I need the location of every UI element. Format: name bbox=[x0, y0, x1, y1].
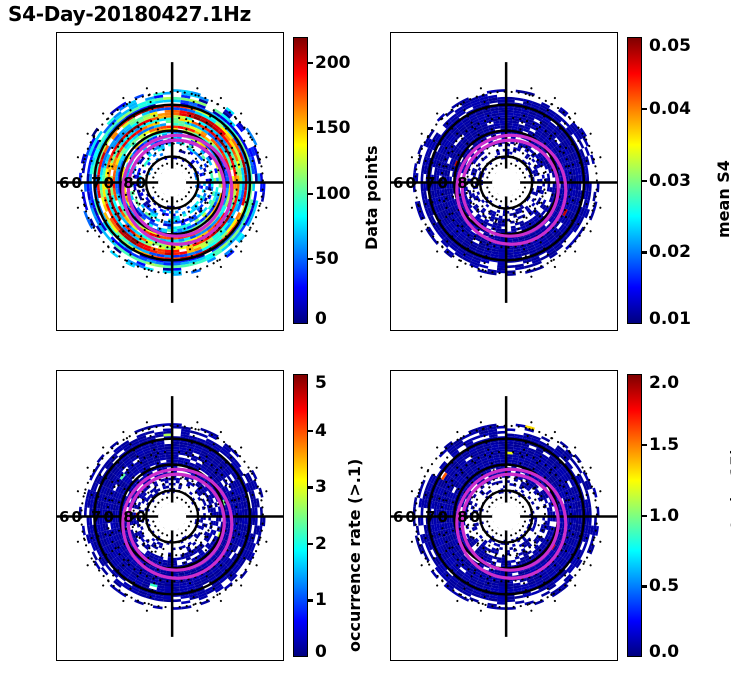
polar-bin bbox=[255, 508, 258, 517]
polar-bin bbox=[159, 153, 163, 157]
polar-bin bbox=[541, 591, 550, 597]
polar-bin bbox=[431, 236, 439, 245]
polar-bin bbox=[172, 97, 181, 100]
polar-bin bbox=[195, 160, 199, 164]
polar-bin bbox=[497, 431, 506, 434]
polar-bin bbox=[531, 501, 535, 505]
colorbar-tick-label: 50 bbox=[315, 249, 339, 269]
colorbar-label-occurrence-015: occurrence rate (>.15) bbox=[727, 448, 731, 652]
polar-bin bbox=[163, 100, 172, 103]
polar-bin bbox=[200, 519, 203, 522]
polar-bin bbox=[474, 503, 478, 507]
polar-bin bbox=[176, 480, 180, 483]
colorbar-tick-label: 0.0 bbox=[649, 642, 679, 662]
polar-bin bbox=[423, 552, 430, 562]
polar-bin bbox=[582, 542, 588, 551]
polar-bin bbox=[497, 100, 506, 103]
colorbar-tick-label: 2.0 bbox=[649, 373, 679, 393]
colorbar-tick-label: 4 bbox=[315, 421, 327, 441]
polar-bin bbox=[497, 262, 506, 265]
polar-bin bbox=[138, 168, 142, 172]
polar-bin bbox=[531, 158, 535, 162]
colorbar-tick-label: 0 bbox=[315, 642, 327, 662]
polar-bin bbox=[497, 268, 506, 271]
polar-plot-occurrence-01: 60 70 80 bbox=[57, 371, 283, 660]
polar-bin bbox=[542, 174, 545, 178]
polar-bin bbox=[210, 174, 213, 179]
polar-bin bbox=[506, 434, 515, 437]
pole-hole bbox=[158, 168, 186, 196]
polar-bin bbox=[527, 496, 531, 500]
polar-bin bbox=[140, 526, 144, 530]
polar-bin bbox=[497, 265, 506, 268]
radial-tick-label: 70 bbox=[91, 508, 116, 526]
panel-data-points: 60 70 80 bbox=[56, 32, 284, 331]
polar-bin bbox=[586, 508, 589, 517]
colorbar-tick-label: 0 bbox=[315, 309, 327, 329]
polar-bin bbox=[172, 265, 181, 268]
polar-bin bbox=[478, 167, 482, 171]
polar-bin bbox=[96, 131, 103, 140]
polar-bin bbox=[172, 262, 181, 265]
polar-bin bbox=[497, 602, 506, 605]
colorbar-tick-mark bbox=[308, 62, 313, 64]
panel-mean-s4: 60 70 80 bbox=[390, 32, 618, 331]
radial-tick-labels-4: 60 70 80 bbox=[393, 508, 482, 526]
colorbar-ticks-mean-s4: 0.010.020.030.040.05 bbox=[642, 37, 702, 324]
polar-bin bbox=[509, 547, 513, 550]
polar-bin bbox=[163, 428, 172, 431]
colorbar-tick-mark bbox=[642, 585, 647, 587]
polar-bin bbox=[509, 483, 513, 486]
polar-bin bbox=[192, 542, 196, 546]
pole-hole bbox=[492, 502, 520, 530]
polar-bin bbox=[485, 204, 489, 208]
polar-bin bbox=[471, 435, 480, 441]
radial-tick-label: 60 bbox=[393, 508, 418, 526]
polar-bin bbox=[497, 97, 506, 100]
polar-bin bbox=[165, 480, 169, 483]
polar-plot-data-points: 60 70 80 bbox=[57, 33, 283, 330]
polar-bin bbox=[586, 183, 589, 192]
polar-bin bbox=[190, 430, 199, 435]
radial-tick-label: 70 bbox=[425, 174, 450, 192]
polar-bin bbox=[138, 502, 142, 506]
colorbar-tick-mark bbox=[308, 599, 313, 601]
polar-bin bbox=[537, 186, 540, 190]
radial-tick-labels-3: 60 70 80 bbox=[59, 508, 148, 526]
polar-bin bbox=[534, 519, 537, 522]
colorbar-occurrence-01 bbox=[293, 374, 308, 657]
polar-bin bbox=[506, 596, 515, 599]
polar-bin bbox=[205, 186, 208, 190]
polar-bin bbox=[583, 137, 590, 147]
colorbar-label-data-points: Data points bbox=[362, 145, 381, 250]
radial-tick-label: 80 bbox=[123, 508, 148, 526]
polar-bin bbox=[506, 97, 515, 100]
polar-bin bbox=[200, 599, 210, 605]
colorbar-tick-mark bbox=[308, 193, 313, 195]
colorbar-tick-label: 0.03 bbox=[649, 171, 691, 191]
colorbar-tick-label: 150 bbox=[315, 118, 351, 138]
polar-bin bbox=[252, 517, 255, 526]
colorbar-tick-mark bbox=[308, 127, 313, 129]
colorbar-tick-label: 2 bbox=[315, 534, 327, 554]
polar-bin bbox=[589, 517, 592, 526]
colorbar-ticks-data-points: 050100150200 bbox=[308, 37, 368, 324]
colorbar-tick-mark bbox=[308, 543, 313, 545]
colorbar-tick-mark bbox=[642, 515, 647, 517]
polar-bin bbox=[163, 262, 172, 265]
polar-bin bbox=[534, 265, 544, 271]
polar-bin bbox=[512, 544, 516, 547]
pole-hole bbox=[158, 502, 186, 530]
polar-bin bbox=[163, 431, 172, 434]
polar-bin bbox=[420, 480, 426, 490]
polar-bin bbox=[176, 215, 180, 218]
polar-bin bbox=[163, 434, 172, 437]
colorbar-tick-label: 5 bbox=[315, 373, 327, 393]
polar-bin bbox=[172, 599, 181, 602]
polar-bin bbox=[176, 557, 181, 560]
radial-tick-label: 60 bbox=[59, 508, 84, 526]
colorbar-tick-label: 0.5 bbox=[649, 576, 679, 596]
polar-bin bbox=[160, 478, 164, 482]
polar-bin bbox=[509, 152, 512, 155]
polar-bin bbox=[524, 264, 533, 269]
polar-bin bbox=[584, 147, 590, 156]
colorbar-tick-label: 0.01 bbox=[649, 309, 691, 329]
colorbar-tick-label: 0.02 bbox=[649, 242, 691, 262]
polar-bin bbox=[499, 215, 503, 218]
polar-plot-mean-s4: 60 70 80 bbox=[391, 33, 617, 330]
polar-bin bbox=[166, 486, 169, 489]
colorbar-tick-mark bbox=[308, 486, 313, 488]
radial-tick-label: 60 bbox=[59, 174, 84, 192]
colorbar-mean-s4 bbox=[627, 37, 642, 324]
polar-bin bbox=[163, 599, 172, 602]
polar-bin bbox=[491, 482, 495, 486]
polar-bin bbox=[189, 491, 193, 495]
polar-bin bbox=[541, 436, 550, 442]
polar-bin bbox=[163, 265, 172, 268]
polar-bin bbox=[481, 199, 485, 203]
polar-bin bbox=[186, 206, 190, 210]
polar-bin bbox=[223, 478, 229, 485]
panel-occurrence-rate-01: 60 70 80 bbox=[56, 370, 284, 661]
radial-tick-label: 80 bbox=[457, 174, 482, 192]
polar-bin bbox=[98, 466, 105, 475]
polar-bin bbox=[253, 191, 257, 200]
colorbar-tick-mark bbox=[308, 258, 313, 260]
radial-tick-labels-2: 60 70 80 bbox=[393, 174, 482, 192]
polar-bin bbox=[246, 128, 253, 137]
colorbar-tick-label: 3 bbox=[315, 477, 327, 497]
polar-bin bbox=[515, 97, 524, 101]
polar-bin bbox=[515, 595, 524, 599]
polar-bin bbox=[469, 597, 479, 603]
radial-tick-labels-1: 60 70 80 bbox=[59, 174, 148, 192]
polar-bin bbox=[257, 173, 260, 182]
panel-occurrence-rate-015: 60 70 80 bbox=[390, 370, 618, 661]
colorbar-tick-label: 0.05 bbox=[649, 36, 691, 56]
polar-bin bbox=[163, 97, 172, 100]
polar-bin bbox=[497, 210, 501, 213]
polar-bin bbox=[534, 599, 544, 605]
polar-bin bbox=[153, 223, 158, 227]
colorbar-data-points bbox=[293, 37, 308, 324]
colorbar-tick-label: 1.5 bbox=[649, 435, 679, 455]
radial-tick-label: 70 bbox=[425, 508, 450, 526]
colorbar-tick-label: 1 bbox=[315, 590, 327, 610]
colorbar-occurrence-015 bbox=[627, 374, 642, 657]
polar-bin bbox=[583, 471, 590, 481]
colorbar-tick-mark bbox=[642, 444, 647, 446]
polar-bin bbox=[199, 433, 208, 439]
colorbar-ticks-occurrence-015: 0.00.51.01.52.0 bbox=[642, 374, 702, 657]
colorbar-tick-label: 1.0 bbox=[649, 506, 679, 526]
figure-canvas: S4-Day-20180427.1Hz 60 70 80 05010015020… bbox=[0, 0, 731, 674]
polar-bin bbox=[589, 211, 595, 221]
polar-bin bbox=[589, 183, 592, 192]
colorbar-tick-mark bbox=[642, 251, 647, 253]
polar-plot-occurrence-015: 60 70 80 bbox=[391, 371, 617, 660]
polar-bin bbox=[92, 551, 98, 560]
polar-bin bbox=[175, 210, 178, 213]
polar-bin bbox=[531, 202, 535, 206]
figure-title: S4-Day-20180427.1Hz bbox=[8, 2, 251, 26]
polar-bin bbox=[215, 187, 218, 192]
polar-bin bbox=[172, 426, 181, 429]
polar-bin bbox=[479, 535, 483, 539]
polar-bin bbox=[496, 607, 506, 610]
colorbar-tick-label: 200 bbox=[315, 53, 351, 73]
polar-bin bbox=[459, 595, 469, 602]
colorbar-tick-label: 100 bbox=[315, 184, 351, 204]
polar-bin bbox=[516, 90, 526, 94]
polar-bin bbox=[151, 538, 155, 542]
polar-bin bbox=[497, 599, 506, 602]
polar-bin bbox=[516, 424, 526, 428]
polar-bin bbox=[200, 185, 203, 188]
polar-bin bbox=[596, 183, 599, 193]
polar-bin bbox=[515, 600, 524, 604]
polar-bin bbox=[509, 213, 513, 216]
polar-bin bbox=[252, 508, 255, 517]
polar-bin bbox=[575, 465, 582, 474]
polar-bin bbox=[255, 517, 258, 526]
polar-bin bbox=[511, 560, 516, 563]
polar-bin bbox=[203, 168, 207, 172]
polar-bin bbox=[586, 517, 589, 526]
polar-bin bbox=[487, 223, 492, 227]
colorbar-tick-mark bbox=[642, 180, 647, 182]
polar-bin bbox=[506, 428, 515, 431]
radial-tick-label: 60 bbox=[393, 174, 418, 192]
polar-bin bbox=[134, 599, 144, 605]
pole-hole bbox=[492, 168, 520, 196]
polar-bin bbox=[499, 547, 503, 550]
polar-bin bbox=[252, 183, 255, 192]
polar-bin bbox=[527, 162, 531, 166]
polar-bin bbox=[172, 268, 181, 271]
colorbar-tick-mark bbox=[642, 108, 647, 110]
polar-bin bbox=[499, 480, 503, 483]
polar-bin bbox=[172, 100, 181, 103]
polar-bin bbox=[255, 174, 258, 183]
colorbar-label-mean-s4: mean S4 bbox=[714, 160, 731, 238]
polar-bin bbox=[165, 213, 169, 216]
polar-bin bbox=[520, 490, 524, 494]
polar-bin bbox=[145, 430, 154, 435]
polar-bin bbox=[547, 173, 550, 178]
polar-bin bbox=[181, 600, 190, 604]
colorbar-tick-label: 0.04 bbox=[649, 99, 691, 119]
polar-bin bbox=[586, 174, 589, 183]
radial-tick-label: 70 bbox=[91, 174, 116, 192]
polar-bin bbox=[506, 265, 515, 268]
polar-bin bbox=[163, 268, 172, 271]
polar-bin bbox=[506, 100, 515, 103]
polar-bin bbox=[479, 264, 488, 269]
polar-bin bbox=[461, 434, 471, 441]
polar-bin bbox=[497, 596, 506, 599]
colorbar-label-occurrence-01: occurrence rate (>.1) bbox=[345, 459, 364, 652]
colorbar-tick-mark bbox=[308, 430, 313, 432]
polar-bin bbox=[589, 508, 592, 517]
radial-tick-label: 80 bbox=[457, 508, 482, 526]
radial-tick-label: 80 bbox=[123, 174, 148, 192]
polar-bin bbox=[506, 599, 515, 602]
polar-bin bbox=[163, 596, 172, 599]
polar-bin bbox=[214, 502, 218, 507]
